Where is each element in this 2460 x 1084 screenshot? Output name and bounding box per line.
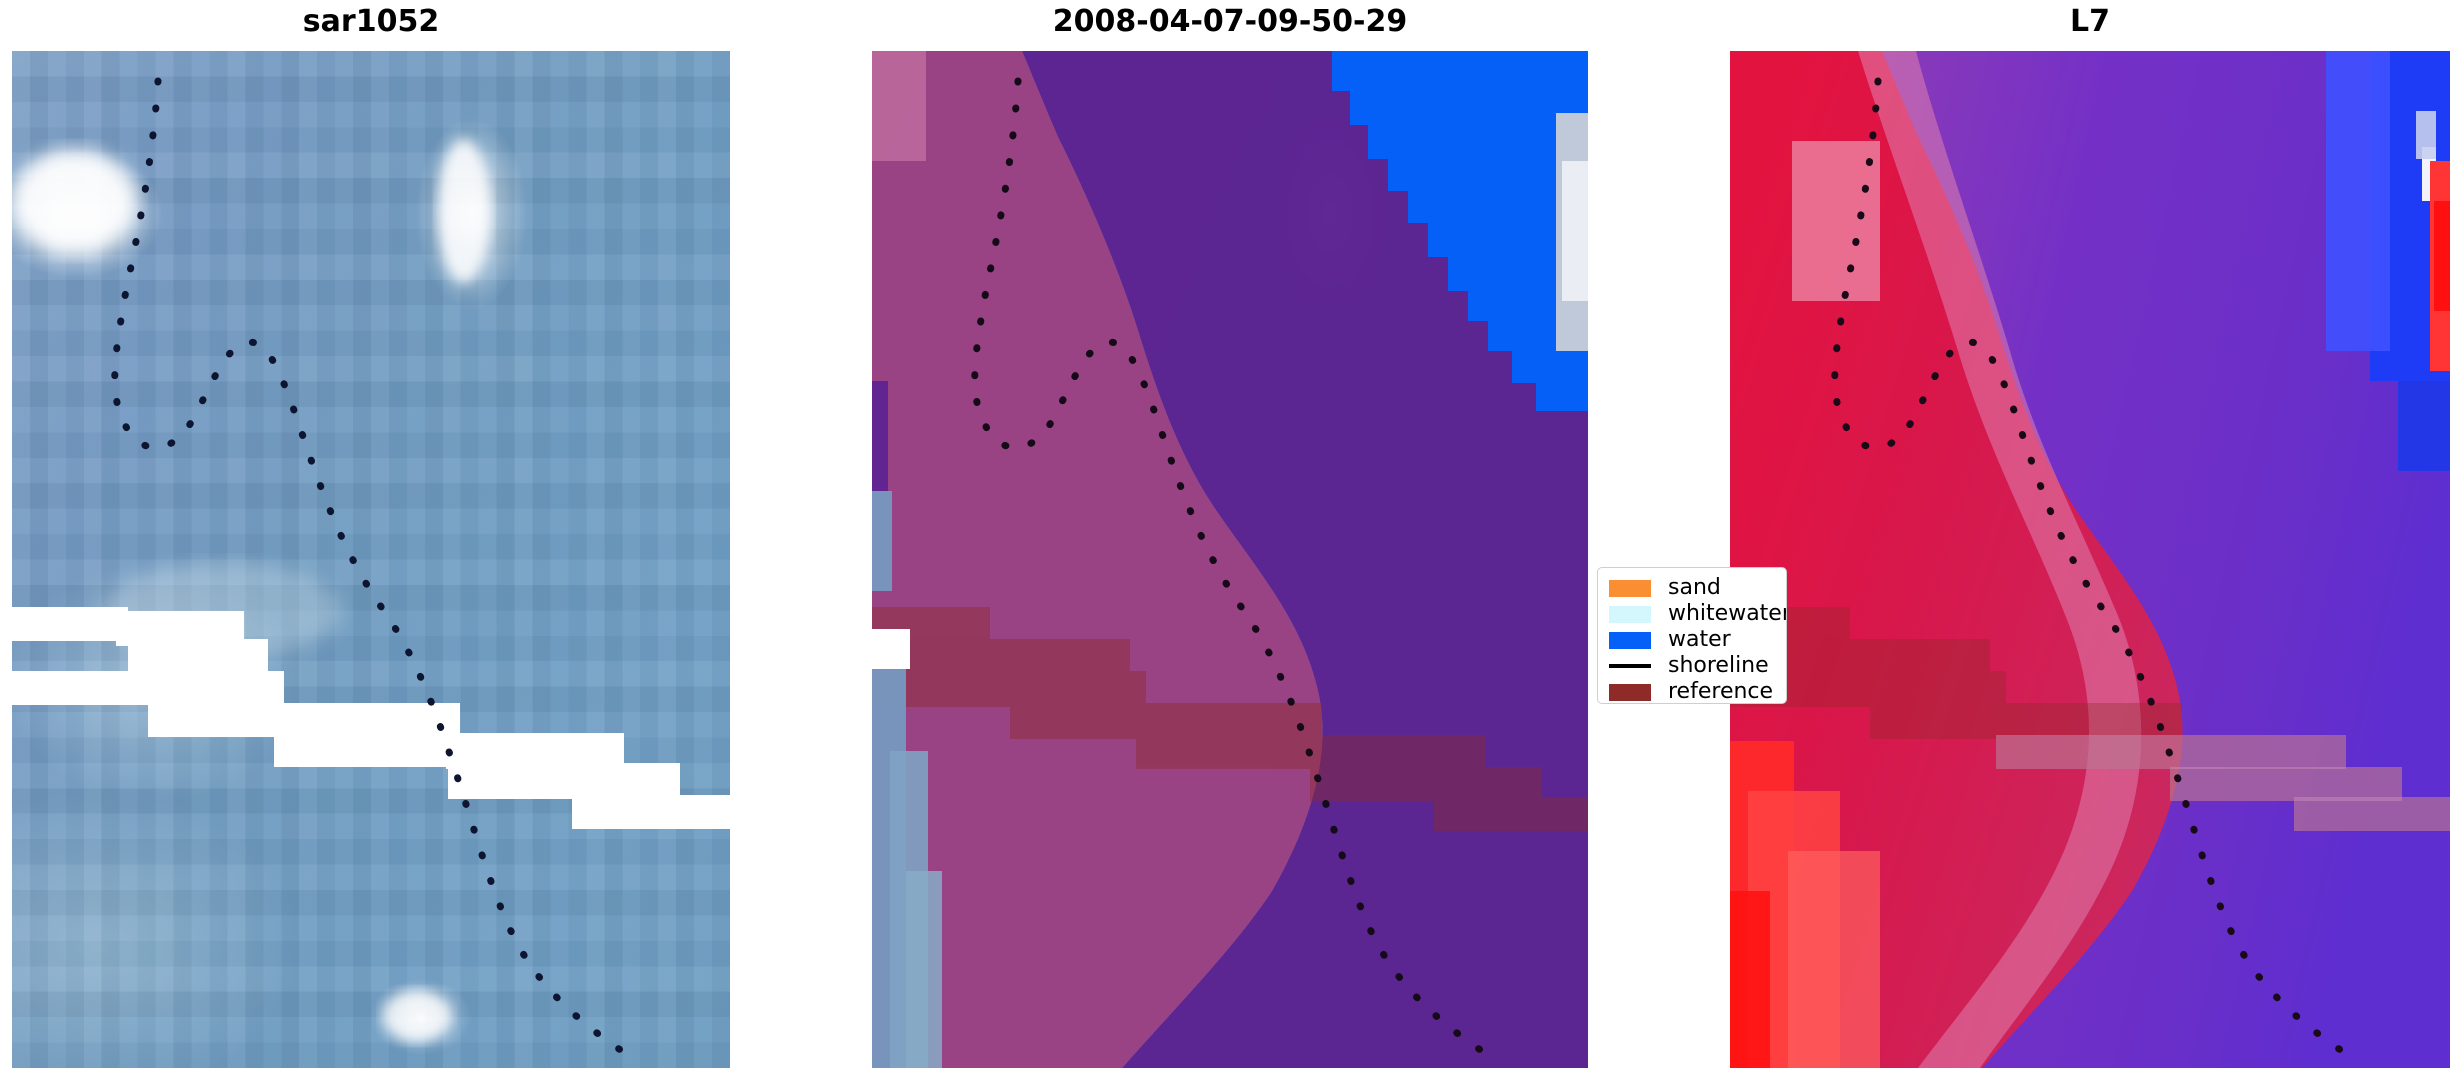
panel-l7[interactable] — [1730, 51, 2450, 1068]
legend-item-whitewater[interactable]: whitewater — [1598, 601, 1786, 627]
legend-item-shoreline[interactable]: shoreline — [1598, 653, 1786, 679]
classified-overlay-polygons — [872, 51, 1588, 1068]
legend-label-reference: reference — [1668, 681, 1773, 703]
legend-label-water: water — [1668, 629, 1731, 651]
legend-item-water[interactable]: water — [1598, 627, 1786, 653]
legend-swatch-sand — [1609, 580, 1651, 597]
legend-label-sand: sand — [1668, 577, 1721, 599]
panel-classified-2008-04-07-09-50-29[interactable] — [872, 51, 1588, 1068]
legend-swatch-whitewater — [1609, 606, 1651, 623]
legend-label-shoreline: shoreline — [1668, 655, 1769, 677]
legend-swatch-shoreline — [1609, 664, 1651, 668]
legend-item-sand[interactable]: sand — [1598, 575, 1786, 601]
legend-swatch-reference — [1609, 684, 1651, 701]
legend-box[interactable]: sand whitewater water shoreline referenc… — [1597, 567, 1787, 704]
panel-title-2: 2008-04-07-09-50-29 — [872, 2, 1588, 42]
panel-title-3: L7 — [1730, 2, 2450, 42]
legend-label-whitewater: whitewater — [1668, 603, 1787, 625]
legend-item-reference[interactable]: reference — [1598, 679, 1786, 704]
sar-nodata-band — [12, 51, 730, 1068]
figure-canvas: sar1052 2008-04-07-09-50-29 L7 — [0, 0, 2460, 1084]
panel-sar1052[interactable] — [12, 51, 730, 1068]
legend-swatch-water — [1609, 632, 1651, 649]
l7-composite-regions — [1730, 51, 2450, 1068]
panel-title-1: sar1052 — [12, 2, 730, 42]
